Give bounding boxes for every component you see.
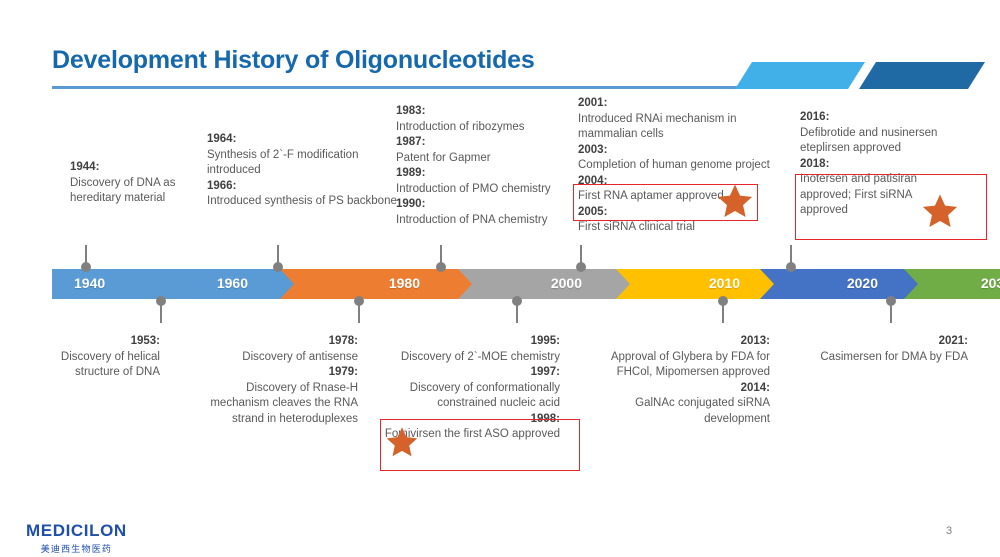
event-text: Introduction of PNA chemistry [396, 214, 547, 226]
event-block-2021: 2021: Casimersen for DMA by FDA [800, 334, 968, 365]
event-entry: 1995: Discovery of 2`-MOE chemistry [378, 334, 560, 365]
company-logo: MEDICILON 美迪西生物医药 [26, 521, 127, 555]
event-block-1944: 1944: Discovery of DNA as hereditary mat… [70, 160, 190, 207]
timeline-pin-1995 [516, 299, 518, 323]
event-year: 1983: [396, 105, 425, 117]
timeline-pin-1953 [160, 299, 162, 323]
event-year: 1964: [207, 133, 236, 145]
page-title: Development History of Oligonucleotides [52, 46, 535, 75]
pin-dot [273, 262, 283, 272]
event-entry: 1953: Discovery of helical structure of … [32, 334, 160, 381]
event-year: 1979: [329, 366, 358, 378]
timeline-year-label: 1980 [389, 275, 420, 291]
pin-dot [436, 262, 446, 272]
event-year: 2001: [578, 97, 607, 109]
logo-subtitle: 美迪西生物医药 [26, 542, 127, 555]
event-entry: 1944: Discovery of DNA as hereditary mat… [70, 160, 190, 207]
event-year: 1989: [396, 167, 425, 179]
timeline-segment-shape [760, 269, 926, 299]
event-entry: 1989: Introduction of PMO chemistry [396, 166, 586, 197]
timeline-pin-2001 [580, 245, 582, 269]
timeline-segment-2020s: 2020 [760, 269, 926, 299]
timeline-segment-2010s: 2010 [616, 269, 782, 299]
event-entry: 1983: Introduction of ribozymes [396, 104, 586, 135]
event-text: Synthesis of 2`-F modification introduce… [207, 149, 358, 177]
timeline-year-label: 2000 [551, 275, 582, 291]
timeline-segment-shape [616, 269, 782, 299]
event-text: Discovery of helical structure of DNA [61, 351, 160, 379]
timeline-year-label: 2010 [709, 275, 740, 291]
event-text: Discovery of DNA as hereditary material [70, 177, 175, 205]
pin-dot [786, 262, 796, 272]
timeline-pin-1944 [85, 245, 87, 269]
event-entry: 1964: Synthesis of 2`-F modification int… [207, 132, 397, 179]
event-year: 1978: [329, 335, 358, 347]
event-entry: 1966: Introduced synthesis of PS backbon… [207, 179, 397, 210]
event-entry: 1997: Discovery of conformationally cons… [378, 365, 560, 412]
logo-wordmark: MEDICILON [26, 521, 127, 541]
event-text: Discovery of antisense [242, 351, 358, 363]
timeline-axis: 1940 1960 1980 2000 2010 2020 2030 [52, 269, 948, 299]
event-block-2013: 2013: Approval of Glybera by FDA for FHC… [588, 334, 770, 427]
pin-dot [156, 296, 166, 306]
timeline-year-label: 2030 [981, 275, 1000, 291]
event-year: 1997: [531, 366, 560, 378]
timeline-pin-1978 [358, 299, 360, 323]
event-entry: 1987: Patent for Gapmer [396, 135, 586, 166]
pin-dot [354, 296, 364, 306]
event-year: 1987: [396, 136, 425, 148]
header-divider-rule [52, 86, 742, 89]
star-icon-1998 [384, 425, 420, 459]
event-text: Introduced synthesis of PS backbone [207, 195, 397, 207]
event-entry: 2016: Defibrotide and nusinersen eteplir… [800, 110, 950, 157]
event-year: 1995: [531, 335, 560, 347]
pin-dot [81, 262, 91, 272]
timeline-segment-shape [458, 269, 638, 299]
event-text: Introduction of ribozymes [396, 121, 524, 133]
event-block-1953: 1953: Discovery of helical structure of … [32, 334, 160, 381]
event-block-1978: 1978: Discovery of antisense 1979: Disco… [210, 334, 358, 427]
event-text: Casimersen for DMA by FDA [820, 351, 968, 363]
event-text: Approval of Glybera by FDA for FHCol, Mi… [611, 351, 770, 379]
pin-dot [512, 296, 522, 306]
pin-dot [576, 262, 586, 272]
event-year: 1953: [131, 335, 160, 347]
event-text: Discovery of conformationally constraine… [410, 382, 560, 410]
pin-dot [886, 296, 896, 306]
event-text: Patent for Gapmer [396, 152, 491, 164]
star-icon-2004 [715, 182, 755, 220]
event-year: 2003: [578, 144, 607, 156]
event-block-1983: 1983: Introduction of ribozymes 1987: Pa… [396, 104, 586, 228]
event-entry: 2003: Completion of human genome project [578, 143, 778, 174]
timeline-segment-2000s: 2000 [458, 269, 638, 299]
event-text: Discovery of 2`-MOE chemistry [401, 351, 560, 363]
event-year: 1966: [207, 180, 236, 192]
event-text: Completion of human genome project [578, 159, 770, 171]
event-entry: 1978: Discovery of antisense [210, 334, 358, 365]
event-text: Defibrotide and nusinersen eteplirsen ap… [800, 127, 937, 155]
event-year: 2014: [741, 382, 770, 394]
event-entry: 1979: Discovery of Rnase-H mechanism cle… [210, 365, 358, 427]
event-year: 2013: [741, 335, 770, 347]
timeline-segment-2030s: 2030 [904, 269, 1000, 299]
event-entry: 1990: Introduction of PNA chemistry [396, 197, 586, 228]
timeline-segment-shape [280, 269, 480, 299]
timeline-year-label: 1940 [74, 275, 105, 291]
timeline-pin-2021 [890, 299, 892, 323]
event-text: First siRNA clinical trial [578, 221, 695, 233]
timeline-pin-2013 [722, 299, 724, 323]
event-text: Introduced RNAi mechanism in mammalian c… [578, 113, 737, 141]
header-chevron-dark-icon [859, 62, 985, 89]
page-number: 3 [946, 525, 952, 537]
event-year: 2016: [800, 111, 829, 123]
timeline-year-label: 2020 [847, 275, 878, 291]
timeline-pin-2016 [790, 245, 792, 269]
pin-dot [718, 296, 728, 306]
timeline-pin-1964 [277, 245, 279, 269]
event-entry: 2013: Approval of Glybera by FDA for FHC… [588, 334, 770, 381]
event-year: 1990: [396, 198, 425, 210]
event-text: Introduction of PMO chemistry [396, 183, 551, 195]
header-chevron-light-icon [735, 62, 865, 89]
timeline-segment-1980s: 1980 [280, 269, 480, 299]
event-text: Discovery of Rnase-H mechanism cleaves t… [210, 382, 358, 425]
event-year: 2021: [939, 335, 968, 347]
timeline-pin-1983 [440, 245, 442, 269]
timeline-segment-1940s: 1940 1960 [52, 269, 302, 299]
event-entry: 2021: Casimersen for DMA by FDA [800, 334, 968, 365]
event-text: GalNAc conjugated siRNA development [635, 397, 770, 425]
event-block-1964: 1964: Synthesis of 2`-F modification int… [207, 132, 397, 210]
star-icon-2018 [920, 192, 960, 230]
event-year: 1944: [70, 161, 99, 173]
slide-canvas: { "slide": { "title": "Development Histo… [0, 0, 1000, 557]
event-year: 2018: [800, 158, 829, 170]
event-entry: 2001: Introduced RNAi mechanism in mamma… [578, 96, 778, 143]
event-entry: 2014: GalNAc conjugated siRNA developmen… [588, 381, 770, 428]
timeline-year-label: 1960 [217, 275, 248, 291]
